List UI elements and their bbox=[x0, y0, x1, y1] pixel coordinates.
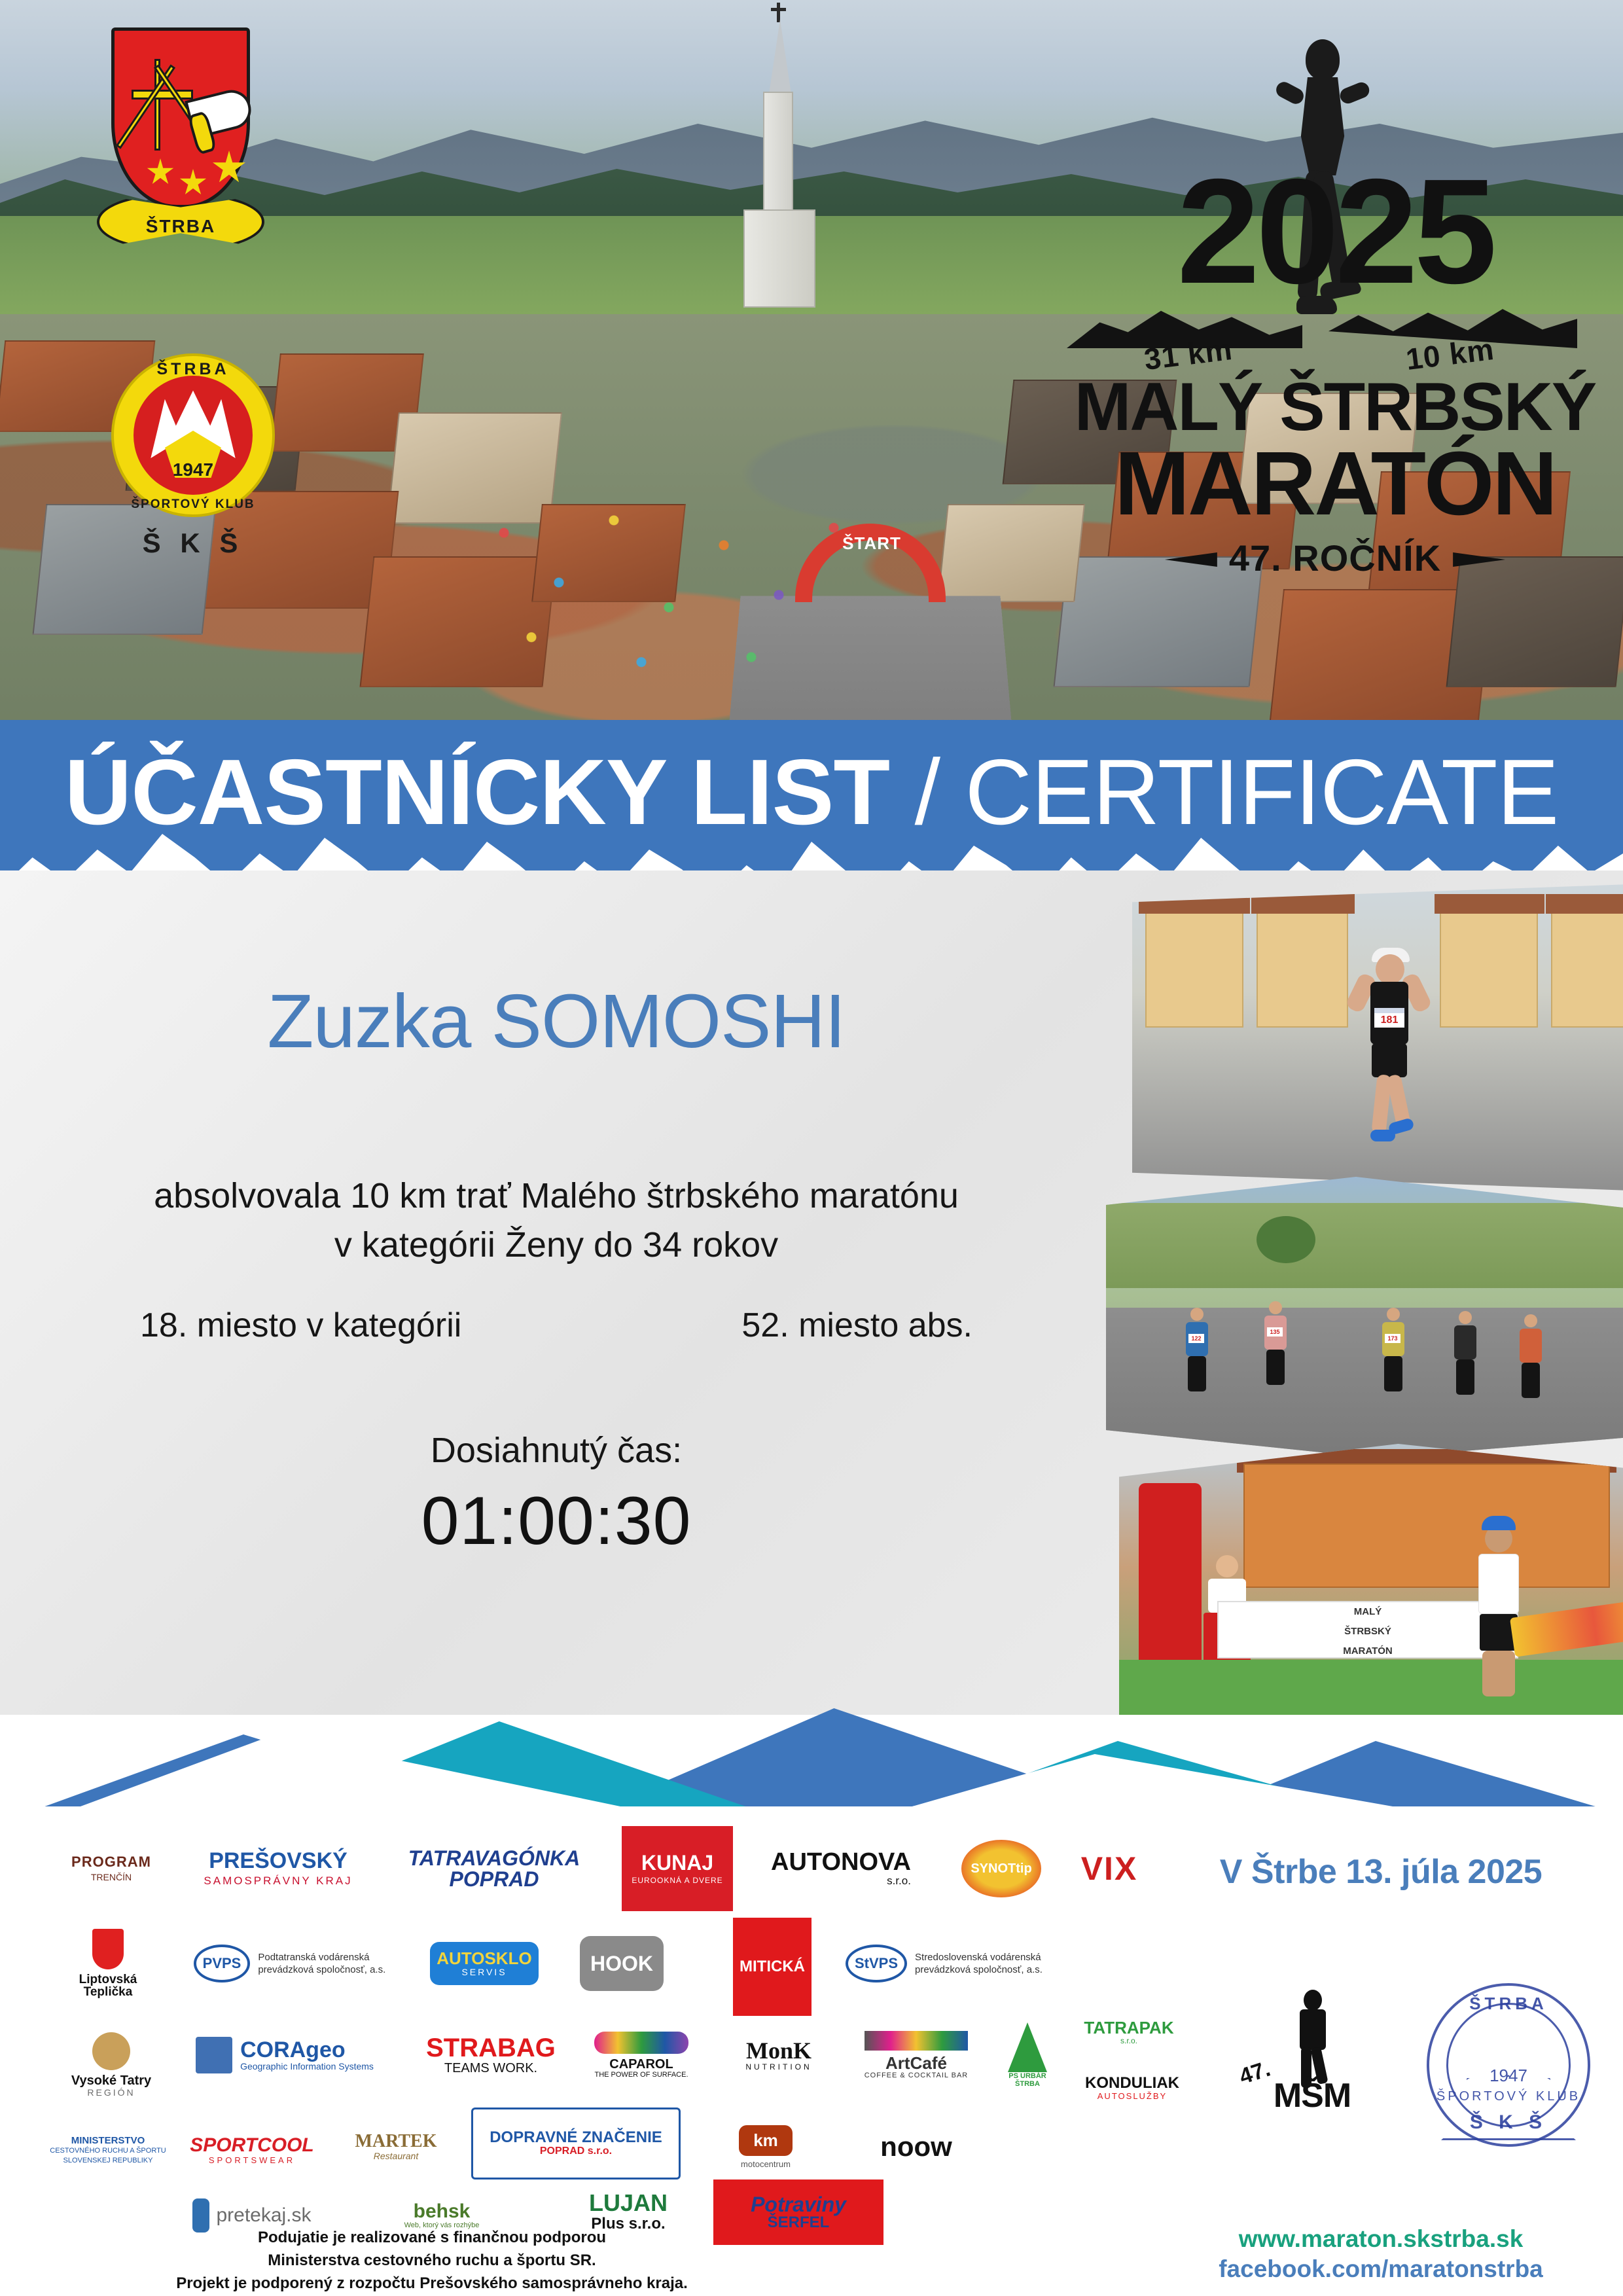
sponsor-logo[interactable]: PVPS Podtatranská vodárenská prevádzková… bbox=[170, 1918, 419, 2009]
sponsor-subtitle: Podtatranská vodárenská prevádzková spol… bbox=[258, 1951, 395, 1977]
facebook-link[interactable]: facebook.com/maratonstrba bbox=[1152, 2254, 1610, 2284]
sponsor-subtitle: Restaurant bbox=[355, 2151, 437, 2161]
description-line-2: v kategórii Ženy do 34 rokov bbox=[0, 1221, 1113, 1270]
sponsor-subtitle: POPRAD s.r.o. bbox=[490, 2145, 662, 2157]
sponsor-logo[interactable]: DOPRAVNÉ ZNAČENIE POPRAD s.r.o. bbox=[471, 2108, 681, 2179]
start-arch-label: ŠTART bbox=[832, 533, 911, 554]
date-and-place: V Štrbe 13. júla 2025 bbox=[1171, 1852, 1590, 1892]
finish-time-value: 01:00:30 bbox=[0, 1482, 1113, 1560]
sponsor-logo[interactable]: KUNAJ EUROOKNÁ A DVERE bbox=[622, 1826, 733, 1911]
sponsor-name: Vysoké Tatry bbox=[71, 2074, 151, 2087]
sponsor-name: PROGRAM bbox=[71, 1855, 151, 1869]
finish-time-label: Dosiahnutý čas: bbox=[0, 1430, 1113, 1471]
place-absolute: 52. miesto abs. bbox=[715, 1306, 999, 1345]
sponsor-name: behsk bbox=[404, 2202, 480, 2221]
church-nave bbox=[743, 209, 815, 308]
msm-runner-icon bbox=[1288, 1990, 1338, 2088]
sponsor-logo[interactable]: CORAgeo Geographic Information Systems bbox=[177, 2016, 393, 2094]
stamp-bottom-label: Š K Š bbox=[1427, 2111, 1590, 2134]
disclaimer-line-1: Podujatie je realizované s finančnou pod… bbox=[39, 2227, 825, 2250]
sponsor-logo[interactable]: ArtCafé COFFEE & COCKTAIL BAR bbox=[851, 2016, 982, 2094]
sponsor-name: HOOK bbox=[590, 1953, 653, 1974]
runner-bib: 122 bbox=[1188, 1334, 1204, 1343]
sponsor-name: noow bbox=[880, 2133, 952, 2161]
msm-logo: 47. MŠM bbox=[1237, 1990, 1387, 2140]
sponsor-subtitle: AUTOSLUŽBY bbox=[1085, 2091, 1179, 2101]
placement-row: 18. miesto v kategórii 52. miesto abs. bbox=[0, 1306, 1113, 1345]
event-title-line2: MARATÓN bbox=[1047, 439, 1623, 529]
sponsor-name: PREŠOVSKÝ bbox=[204, 1850, 352, 1872]
sponsor-logo-grid: PROGRAM TRENČÍN PREŠOVSKÝ SAMOSPRÁVNY KR… bbox=[46, 1820, 1152, 2225]
sponsor-subtitle: POPRAD bbox=[408, 1869, 580, 1890]
sponsor-name: StVPS bbox=[855, 1956, 898, 1971]
finisher-bib: 181 bbox=[1374, 1008, 1404, 1028]
runner-bib: 135 bbox=[1267, 1327, 1283, 1336]
sponsor-logo[interactable]: MITICKÁ bbox=[733, 1918, 811, 2016]
runner-figure: 173 bbox=[1381, 1308, 1406, 1391]
sponsor-subtitle: TEAMS WORK. bbox=[426, 2061, 556, 2076]
sponsor-name: SYNOTtip bbox=[971, 1862, 1031, 1875]
arrow-left-icon bbox=[1165, 552, 1217, 567]
sponsor-name: TATRAPAK bbox=[1084, 2019, 1173, 2036]
certificate-title: ÚČASTNÍCKY LIST / CERTIFICATE bbox=[0, 746, 1623, 839]
sponsor-name: DOPRAVNÉ ZNAČENIE bbox=[490, 2130, 662, 2145]
tree-icon bbox=[1257, 1216, 1315, 1263]
stamp-middle-label: ŠPORTOVÝ KLUB bbox=[1427, 2089, 1590, 2104]
sponsor-subtitle: SERVIS bbox=[437, 1967, 531, 1977]
sponsor-subtitle: Stredoslovenská vodárenská prevádzková s… bbox=[915, 1951, 1052, 1977]
title-english: CERTIFICATE bbox=[965, 740, 1558, 844]
sponsor-name: pretekaj.sk bbox=[216, 2204, 311, 2227]
distance-ridges: 31 km 10 km bbox=[1047, 288, 1623, 373]
sponsor-logo[interactable]: AUTONOVA s.r.o. bbox=[746, 1826, 936, 1911]
sponsor-logo[interactable]: Vysoké Tatry REGIÓN bbox=[46, 2016, 177, 2114]
participant-name: Zuzka SOMOSHI bbox=[0, 982, 1113, 1062]
sponsor-logo[interactable]: SYNOTtip bbox=[949, 1826, 1054, 1911]
church-building bbox=[740, 20, 818, 301]
sponsor-logo[interactable]: StVPS Stredoslovenská vodárenská prevádz… bbox=[825, 1918, 1073, 2009]
photo-finish-line: MALÝ ŠTRBSKÝ MARATÓN bbox=[1119, 1444, 1623, 1715]
runner-bib-number: 173 bbox=[1387, 1335, 1397, 1342]
hero-photo-header: ŠTART ŠTRBA ŠTRBA 1947 ŠPORTOVÝ KLUB Š K… bbox=[0, 0, 1623, 772]
sponsor-logo[interactable]: km motocentrum bbox=[700, 2101, 831, 2193]
sponsor-subtitle: CESTOVNÉHO RUCHU A ŠPORTU SLOVENSKEJ REP… bbox=[46, 2146, 170, 2165]
sponsor-logo[interactable]: TATRAPAK s.r.o. bbox=[1073, 2006, 1185, 2058]
sponsor-name: CORAgeo bbox=[240, 2039, 374, 2061]
sponsor-logo[interactable]: CAPAROL THE POWER OF SURFACE. bbox=[576, 2016, 707, 2094]
event-edition: 47. ROČNÍK bbox=[1047, 537, 1623, 579]
sponsor-subtitle: Teplička bbox=[79, 1986, 137, 1998]
sponsor-subtitle: TRENČÍN bbox=[71, 1872, 151, 1882]
sponsor-logo[interactable]: MINISTERSTVO CESTOVNÉHO RUCHU A ŠPORTU S… bbox=[46, 2108, 170, 2193]
sks-top-label: ŠTRBA bbox=[111, 360, 275, 379]
place-in-category: 18. miesto v kategórii bbox=[114, 1306, 488, 1345]
photo-runners-hill: 122 135 173 bbox=[1106, 1177, 1623, 1458]
runner-bib-number: 122 bbox=[1191, 1335, 1201, 1342]
coa-ribbon-label: ŠTRBA bbox=[99, 216, 262, 237]
sponsor-name: MINISTERSTVO bbox=[46, 2135, 170, 2146]
sponsor-name: MARTEK bbox=[355, 2132, 437, 2151]
strba-coat-of-arms: ŠTRBA bbox=[97, 27, 264, 263]
sponsor-logo[interactable]: KONDULIAK AUTOSLUŽBY bbox=[1073, 2062, 1191, 2114]
funding-disclaimer: Podujatie je realizované s finančnou pod… bbox=[39, 2227, 825, 2295]
sponsor-logo[interactable]: MonK NUTRITION bbox=[713, 2016, 844, 2094]
church-spire bbox=[768, 20, 792, 98]
sponsor-logo[interactable]: TATRAVAGÓNKA POPRAD bbox=[386, 1826, 602, 1911]
msm-abbrev: MŠM bbox=[1237, 2076, 1387, 2115]
sponsor-subtitle: THE POWER OF SURFACE. bbox=[594, 2071, 688, 2079]
description-line-1: absolvovala 10 km trať Malého štrbského … bbox=[0, 1172, 1113, 1221]
title-slovak: ÚČASTNÍCKY LIST bbox=[65, 740, 889, 844]
website-link[interactable]: www.maraton.skstrba.sk bbox=[1152, 2224, 1610, 2254]
sponsor-logo[interactable]: PROGRAM TRENČÍN bbox=[46, 1826, 177, 1911]
sponsor-subtitle: SPORTSWEAR bbox=[190, 2155, 313, 2165]
sponsor-name: CAPAROL bbox=[594, 2058, 688, 2071]
sponsor-logo[interactable]: STRABAG TEAMS WORK. bbox=[412, 2016, 569, 2094]
sponsor-logo[interactable]: Liptovská Teplička bbox=[46, 1918, 170, 2009]
finisher-runner-figure: 181 bbox=[1348, 936, 1427, 1152]
sponsor-name: SPORTCOOL bbox=[190, 2136, 313, 2155]
sponsor-subtitle: motocentrum bbox=[739, 2159, 793, 2169]
sks-abbrev-label: Š K Š bbox=[111, 528, 275, 559]
runner-bib-number: 135 bbox=[1270, 1329, 1279, 1335]
sponsor-subtitle: EUROOKNÁ A DVERE bbox=[632, 1876, 722, 1885]
sponsor-subtitle: SAMOSPRÁVNY KRAJ bbox=[204, 1874, 352, 1888]
sponsor-subtitle: ŠTRBA bbox=[1008, 2080, 1047, 2088]
sponsor-footer: PROGRAM TRENČÍN PREŠOVSKÝ SAMOSPRÁVNY KR… bbox=[0, 1806, 1623, 2296]
stamp-top-label: ŠTRBA bbox=[1427, 1994, 1590, 2014]
sponsor-name: LUJAN bbox=[589, 2191, 668, 2215]
sks-official-stamp: ŠTRBA 1947 ŠPORTOVÝ KLUB Š K Š bbox=[1427, 1983, 1590, 2147]
photo-collage: 181 122 135 173 bbox=[1106, 884, 1623, 1715]
sponsor-name: PVPS bbox=[203, 1956, 241, 1971]
photo-finisher: 181 bbox=[1132, 884, 1623, 1191]
contact-links: www.maraton.skstrba.sk facebook.com/mara… bbox=[1152, 2224, 1610, 2285]
sponsor-logo[interactable]: PS URBÁR ŠTRBA bbox=[982, 2009, 1073, 2101]
runner-figure bbox=[1453, 1311, 1478, 1395]
participant-name-wrap: Zuzka SOMOSHI bbox=[0, 982, 1113, 1062]
sponsor-logo[interactable]: noow bbox=[851, 2108, 982, 2186]
runner-figure bbox=[1518, 1314, 1543, 1398]
sponsor-subtitle: Geographic Information Systems bbox=[240, 2061, 374, 2072]
event-year: 2025 bbox=[1047, 157, 1623, 306]
sponsor-name: AUTOSKLO bbox=[437, 1950, 531, 1967]
arrow-right-icon bbox=[1453, 552, 1505, 567]
sponsor-name: KUNAJ bbox=[632, 1852, 722, 1873]
sponsor-name: TATRAVAGÓNKA bbox=[408, 1848, 580, 1869]
sponsor-logo[interactable]: PREŠOVSKÝ SAMOSPRÁVNY KRAJ bbox=[183, 1826, 373, 1911]
sponsor-subtitle: NUTRITION bbox=[745, 2062, 811, 2072]
disclaimer-line-3: Projekt je podporený z rozpočtu Prešovsk… bbox=[39, 2272, 825, 2295]
sponsor-name: km bbox=[753, 2130, 778, 2150]
sponsor-logo[interactable]: VIX bbox=[1063, 1826, 1155, 1911]
sponsor-name: STRABAG bbox=[426, 2035, 556, 2061]
event-title-line1: MALÝ ŠTRBSKÝ bbox=[1047, 373, 1623, 441]
sponsor-logo[interactable]: MARTEK Restaurant bbox=[334, 2101, 458, 2193]
sponsor-logo[interactable]: AUTOSKLO SERVIS bbox=[412, 1918, 556, 2009]
event-branding: 2025 31 km 10 km MALÝ ŠTRBSKÝ MARATÓN 47… bbox=[1047, 26, 1623, 615]
sponsor-name: ArtCafé bbox=[865, 2054, 969, 2072]
sponsor-name: PS URBÁR bbox=[1008, 2072, 1047, 2080]
sponsor-logo[interactable]: SPORTCOOL SPORTSWEAR bbox=[177, 2108, 327, 2193]
sponsor-subtitle: REGIÓN bbox=[71, 2087, 151, 2098]
sks-bottom-label: ŠPORTOVÝ KLUB bbox=[111, 497, 275, 512]
sponsor-subtitle: s.r.o. bbox=[771, 1874, 911, 1888]
runner-figure: 122 bbox=[1185, 1308, 1209, 1391]
sponsor-subtitle: s.r.o. bbox=[1084, 2036, 1173, 2045]
sponsor-logo[interactable]: HOOK bbox=[563, 1918, 681, 2009]
sks-club-logo: ŠTRBA 1947 ŠPORTOVÝ KLUB bbox=[111, 353, 275, 517]
event-edition-label: 47. ROČNÍK bbox=[1229, 537, 1441, 579]
runner-bib: 173 bbox=[1385, 1334, 1400, 1343]
disclaimer-line-2: Ministerstva cestovného ruchu a športu S… bbox=[39, 2250, 825, 2272]
sponsor-name: AUTONOVA bbox=[771, 1850, 911, 1874]
sks-year-label: 1947 bbox=[111, 459, 275, 480]
sponsor-name: MonK bbox=[745, 2039, 811, 2062]
runner-figure: 135 bbox=[1263, 1301, 1288, 1385]
certificate-description: absolvovala 10 km trať Malého štrbského … bbox=[0, 1172, 1113, 1269]
sponsor-name: Liptovská bbox=[79, 1973, 137, 1986]
title-separator: / bbox=[889, 740, 965, 844]
sponsor-name: Potraviny bbox=[751, 2194, 846, 2215]
sponsor-name: MITICKÁ bbox=[740, 1957, 805, 1977]
stamp-year-label: 1947 bbox=[1427, 2066, 1590, 2086]
sponsor-name: VIX bbox=[1081, 1852, 1138, 1885]
sponsor-name: KONDULIAK bbox=[1085, 2075, 1179, 2091]
finisher-bib-number: 181 bbox=[1374, 1013, 1404, 1028]
sponsor-subtitle: COFFEE & COCKTAIL BAR bbox=[865, 2072, 969, 2079]
